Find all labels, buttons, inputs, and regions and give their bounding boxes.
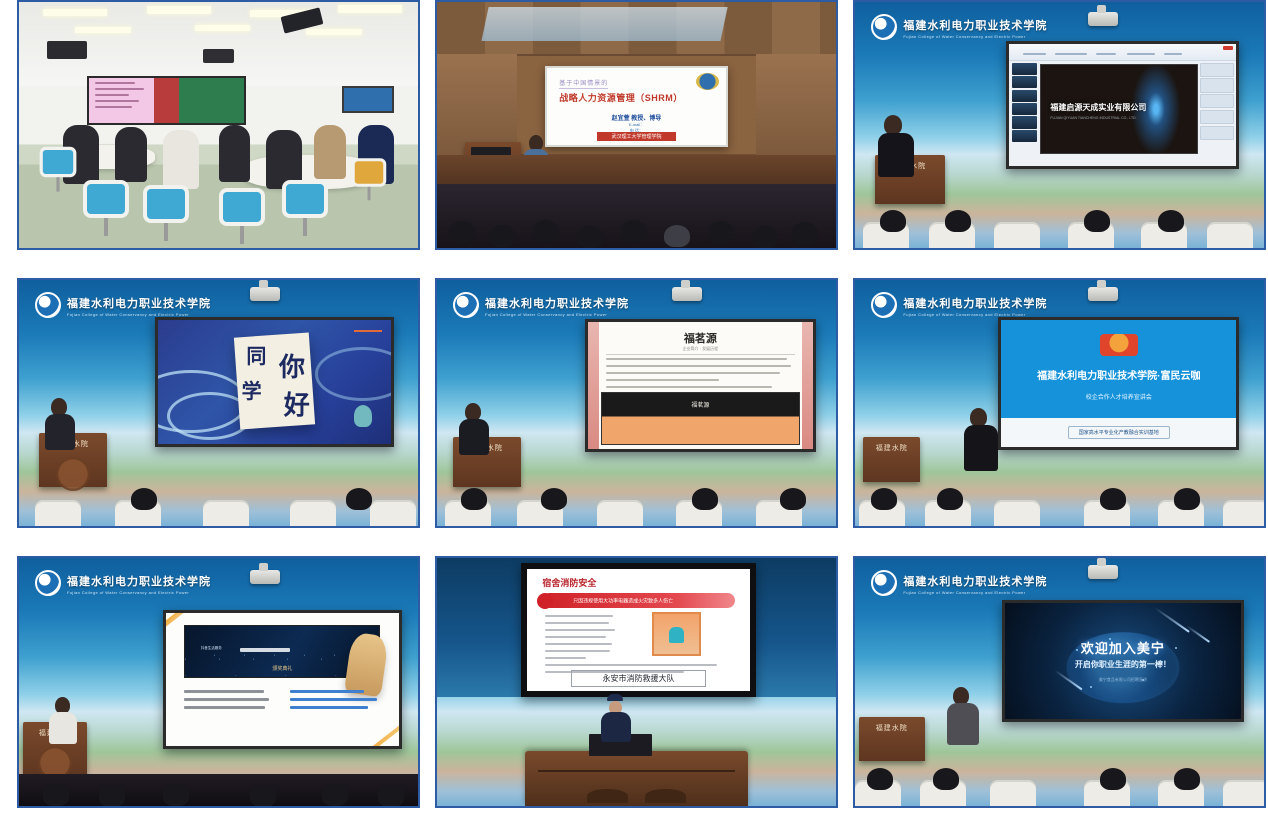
speaker-person-5 (465, 403, 489, 455)
projection-slide-2: 基于中国情景的 战略人力资源管理（SHRM） 赵宜萱 教授、博导 E-mail：… (545, 66, 729, 147)
slide-awards: 抖音生活服务 颁奖典礼 抖音生活服务2023年度服务商 (166, 613, 399, 746)
slide-8-footer: 永安市消防救援大队 (571, 670, 705, 687)
slide-5-subtitle: 企业简介 · 发展历程 (588, 346, 813, 352)
college-logo-5: 福建水利电力职业技术学院 Fujian College of Water Con… (453, 292, 629, 318)
slide-eyebrow: 基于中国情景的 (559, 78, 608, 89)
slide-5-title: 福茗源 (588, 330, 813, 346)
ppt-side-pane[interactable] (1200, 63, 1234, 157)
photo-9-image: 福建水利电力职业技术学院 Fujian College of Water Con… (855, 558, 1264, 806)
podium-plate: 福建水院 (876, 723, 908, 733)
photo-cell-5[interactable]: 福建水利电力职业技术学院 Fujian College of Water Con… (435, 278, 838, 528)
ppt-ribbon[interactable] (1009, 44, 1236, 61)
slide-8-banner: 只因违规使用大功率电器造成火灾致多人伤亡 (542, 593, 734, 608)
audience-7 (19, 774, 418, 806)
college-name-cn: 福建水利电力职业技术学院 (485, 298, 629, 310)
lecture-desk (525, 751, 748, 806)
led-display-4: 同 学 你 好 同学你好 (155, 317, 394, 447)
slide-6-footer-band: 国家高水平专业化产教融合实训基地 (1001, 418, 1236, 447)
photo-7-image: 福建水利电力职业技术学院 Fujian College of Water Con… (19, 558, 418, 806)
college-seal-icon (35, 292, 61, 318)
powerpoint-window: 福建启源天成实业有限公司 FUJIAN QIYUAN TIANCHENG IND… (1009, 44, 1236, 166)
slide-6-title: 福建水利电力职业技术学院·富民云咖 (1037, 367, 1200, 382)
slide-char-1: 同 (246, 340, 266, 369)
college-name-en: Fujian College of Water Conservancy and … (903, 34, 1047, 39)
photo-1-image: classroom lecture with students seated a… (19, 2, 418, 248)
college-name-cn: 福建水利电力职业技术学院 (903, 298, 1047, 310)
slide-8-illustration (652, 612, 701, 656)
speaker-person-6 (970, 408, 998, 471)
slide-org: 武汉理工大学管理学院 (597, 132, 676, 141)
slide-8-banner-text: 只因违规使用大功率电器造成火灾致多人伤亡 (573, 597, 673, 604)
ceiling-projector-5 (672, 287, 702, 301)
ceiling-projector-3 (1088, 12, 1118, 26)
classroom-display (87, 76, 247, 125)
college-name-cn: 福建水利电力职业技术学院 (903, 576, 1047, 588)
photo-cell-6[interactable]: 福建水利电力职业技术学院 Fujian College of Water Con… (853, 278, 1266, 528)
photo-8-image: 宿舍消防安全 只因违规使用大功率电器造成火灾致多人伤亡 永安市消防救援大队 (437, 558, 836, 806)
photo-2-image: 基于中国情景的 战略人力资源管理（SHRM） 赵宜萱 教授、博导 E-mail：… (437, 2, 836, 248)
classroom-side-monitor (342, 86, 394, 113)
audience-2 (437, 184, 836, 248)
speaker-person-3 (884, 115, 914, 177)
slide-9-subtitle: 开启你职业生涯的第一棒！ (1005, 659, 1240, 670)
led-display-3: 福建启源天成实业有限公司 FUJIAN QIYUAN TIANCHENG IND… (1006, 41, 1239, 169)
audience-9 (855, 751, 1264, 806)
podium-plate: 福建水院 (876, 443, 908, 453)
photo-3-image: 福建水利电力职业技术学院 Fujian College of Water Con… (855, 2, 1264, 248)
photo-cell-9[interactable]: 福建水利电力职业技术学院 Fujian College of Water Con… (853, 556, 1266, 808)
slide-6-footer: 国家高水平专业化产教融合实训基地 (1068, 426, 1170, 439)
university-seal-icon (696, 73, 719, 90)
slide-title: 战略人力资源管理（SHRM） (559, 91, 683, 104)
led-display-5: 福茗源 企业简介 · 发展历程 福茗源 (585, 319, 816, 452)
speaker-person-7 (55, 697, 77, 744)
photo-cell-2[interactable]: 基于中国情景的 战略人力资源管理（SHRM） 赵宜萱 教授、博导 E-mail：… (435, 0, 838, 250)
college-logo-6: 福建水利电力职业技术学院 Fujian College of Water Con… (871, 292, 1047, 318)
slide-5-photo: 福茗源 (601, 392, 799, 445)
ceiling-projector-6 (1088, 287, 1118, 301)
college-seal-icon (871, 14, 897, 40)
slide-thumbnail-pane[interactable] (1012, 63, 1037, 157)
projection-screen-8: 宿舍消防安全 只因违规使用大功率电器造成火灾致多人伤亡 永安市消防救援大队 (521, 563, 756, 697)
uniform-cap-icon (607, 694, 623, 701)
audience-6 (855, 472, 1264, 526)
photo-4-image: 福建水利电力职业技术学院 Fujian College of Water Con… (19, 280, 418, 526)
college-logo-4: 福建水利电力职业技术学院 Fujian College of Water Con… (35, 292, 211, 318)
college-name-en: Fujian College of Water Conservancy and … (903, 590, 1047, 595)
led-display-9: 欢迎加入美宁 开启你职业生涯的第一棒！ 美宁食品有限公司招聘宣讲 (1002, 600, 1243, 722)
photo-cell-7[interactable]: 福建水利电力职业技术学院 Fujian College of Water Con… (17, 556, 420, 808)
led-display-7: 抖音生活服务 颁奖典礼 抖音生活服务2023年度服务商 (163, 610, 402, 749)
audience-4 (19, 472, 418, 526)
slide-9-note: 美宁食品有限公司招聘宣讲 (1005, 677, 1240, 683)
slide-hello: 同 学 你 好 同学你好 (158, 320, 391, 444)
ceiling-projector-4 (250, 287, 280, 301)
speaker-person-4 (51, 398, 75, 450)
ceiling-skylight (481, 7, 728, 41)
photo-cell-3[interactable]: 福建水利电力职业技术学院 Fujian College of Water Con… (853, 0, 1266, 250)
speaker-person-9 (953, 687, 979, 745)
college-seal-icon (871, 570, 897, 596)
college-logo-7: 福建水利电力职业技术学院 Fujian College of Water Con… (35, 570, 211, 596)
slide-char-4: 好 (284, 385, 310, 422)
slide-welcome: 欢迎加入美宁 开启你职业生涯的第一棒！ 美宁食品有限公司招聘宣讲 (1005, 603, 1240, 719)
ceiling-camera-center (203, 49, 235, 64)
ceiling-projector-9 (1088, 565, 1118, 579)
college-seal-icon (871, 292, 897, 318)
college-name-cn: 福建水利电力职业技术学院 (903, 20, 1047, 32)
audience-5 (437, 472, 836, 526)
slide-6-subtitle: 校企合作人才培养宣讲会 (1086, 392, 1152, 401)
college-name-cn: 福建水利电力职业技术学院 (67, 298, 211, 310)
speaker-person-8 (609, 694, 631, 742)
slide-tea-company: 福茗源 企业简介 · 发展历程 福茗源 (588, 322, 813, 449)
college-name-en: Fujian College of Water Conservancy and … (67, 590, 211, 595)
photo-grid-page: classroom lecture with students seated a… (0, 0, 1268, 821)
photo-cell-1[interactable]: classroom lecture with students seated a… (17, 0, 420, 250)
company-name-en: FUJIAN QIYUAN TIANCHENG INDUSTRIAL CO., … (1050, 116, 1136, 120)
company-name: 福建启源天成实业有限公司 (1050, 102, 1146, 113)
college-seal-icon (453, 292, 479, 318)
award-list (184, 690, 380, 709)
slide-8-title: 宿舍消防安全 (542, 576, 596, 589)
ceiling-camera-left (47, 41, 87, 58)
slide-8-body (545, 615, 616, 664)
slide-blue-title: 福建水利电力职业技术学院·富民云咖 校企合作人才培养宣讲会 国家高水平专业化产教… (1001, 320, 1236, 447)
slide-bullet-lines (95, 82, 148, 112)
slide-char-2: 学 (242, 375, 262, 404)
slide-9-title: 欢迎加入美宁 (1005, 638, 1240, 657)
photo-cell-8[interactable]: 宿舍消防安全 只因违规使用大功率电器造成火灾致多人伤亡 永安市消防救援大队 (435, 556, 838, 808)
led-display-6: 福建水利电力职业技术学院·富民云咖 校企合作人才培养宣讲会 国家高水平专业化产教… (998, 317, 1239, 450)
photo-5-image: 福建水利电力职业技术学院 Fujian College of Water Con… (437, 280, 836, 526)
slide-5-photo-caption: 福茗源 (602, 400, 798, 409)
photo-grid: classroom lecture with students seated a… (17, 0, 1264, 810)
slide-fire-safety: 宿舍消防安全 只因违规使用大功率电器造成火灾致多人伤亡 永安市消防救援大队 (527, 569, 750, 691)
photo-cell-4[interactable]: 福建水利电力职业技术学院 Fujian College of Water Con… (17, 278, 420, 528)
close-icon[interactable] (1223, 46, 1233, 50)
photo-6-image: 福建水利电力职业技术学院 Fujian College of Water Con… (855, 280, 1264, 526)
college-logo-3: 福建水利电力职业技术学院 Fujian College of Water Con… (871, 14, 1047, 40)
audience-3 (855, 194, 1264, 248)
ceiling-projector-7 (250, 570, 280, 584)
college-name-en: Fujian College of Water Conservancy and … (485, 312, 629, 317)
slide-speaker: 赵宜萱 教授、博导 (547, 113, 727, 122)
slide-char-3: 你 (279, 347, 305, 384)
company-logo-icon (1100, 334, 1138, 356)
college-seal-icon (35, 570, 61, 596)
college-logo-9: 福建水利电力职业技术学院 Fujian College of Water Con… (871, 570, 1047, 596)
college-name-cn: 福建水利电力职业技术学院 (67, 576, 211, 588)
ppt-slide-canvas: 福建启源天成实业有限公司 FUJIAN QIYUAN TIANCHENG IND… (1040, 64, 1198, 154)
